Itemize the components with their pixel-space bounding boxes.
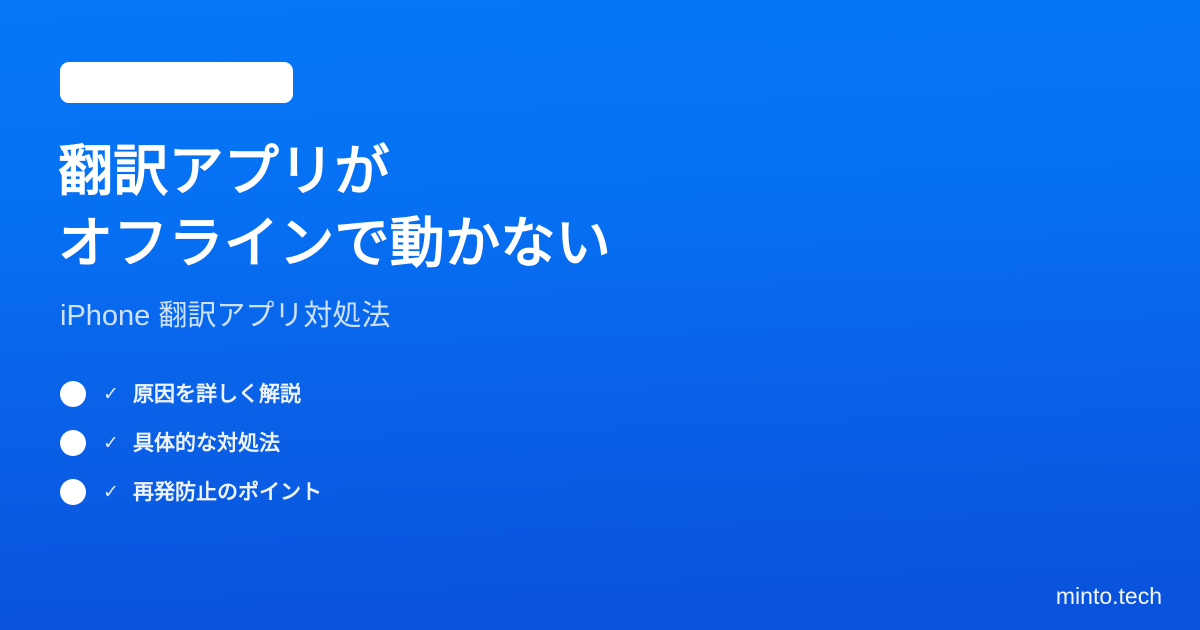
list-item-label: 原因を詳しく解説 <box>133 384 301 405</box>
category-badge-label <box>60 62 293 103</box>
category-badge <box>60 62 293 103</box>
list-item-label: 具体的な対処法 <box>133 433 280 454</box>
page-title: 翻訳アプリが オフラインで動かない <box>58 136 1140 279</box>
page-subtitle: iPhone 翻訳アプリ対処法 <box>60 299 1140 334</box>
feature-list: ✓ 原因を詳しく解説 ✓ 具体的な対処法 ✓ 再発防止のポイント <box>60 370 1140 517</box>
check-icon: ✓ <box>98 483 124 502</box>
check-icon: ✓ <box>98 385 124 404</box>
og-card: 翻訳アプリが オフラインで動かない iPhone 翻訳アプリ対処法 ✓ 原因を詳… <box>0 0 1200 630</box>
list-item: ✓ 原因を詳しく解説 <box>60 370 1140 419</box>
site-brand: minto.tech <box>1056 585 1162 608</box>
filled-circle-icon <box>60 430 86 456</box>
headline-line-1: 翻訳アプリが <box>58 136 1140 208</box>
list-item: ✓ 具体的な対処法 <box>60 419 1140 468</box>
list-item-label: 再発防止のポイント <box>133 482 322 503</box>
list-item: ✓ 再発防止のポイント <box>60 468 1140 517</box>
filled-circle-icon <box>60 479 86 505</box>
headline-line-2: オフラインで動かない <box>58 208 1140 280</box>
check-icon: ✓ <box>98 434 124 453</box>
filled-circle-icon <box>60 381 86 407</box>
